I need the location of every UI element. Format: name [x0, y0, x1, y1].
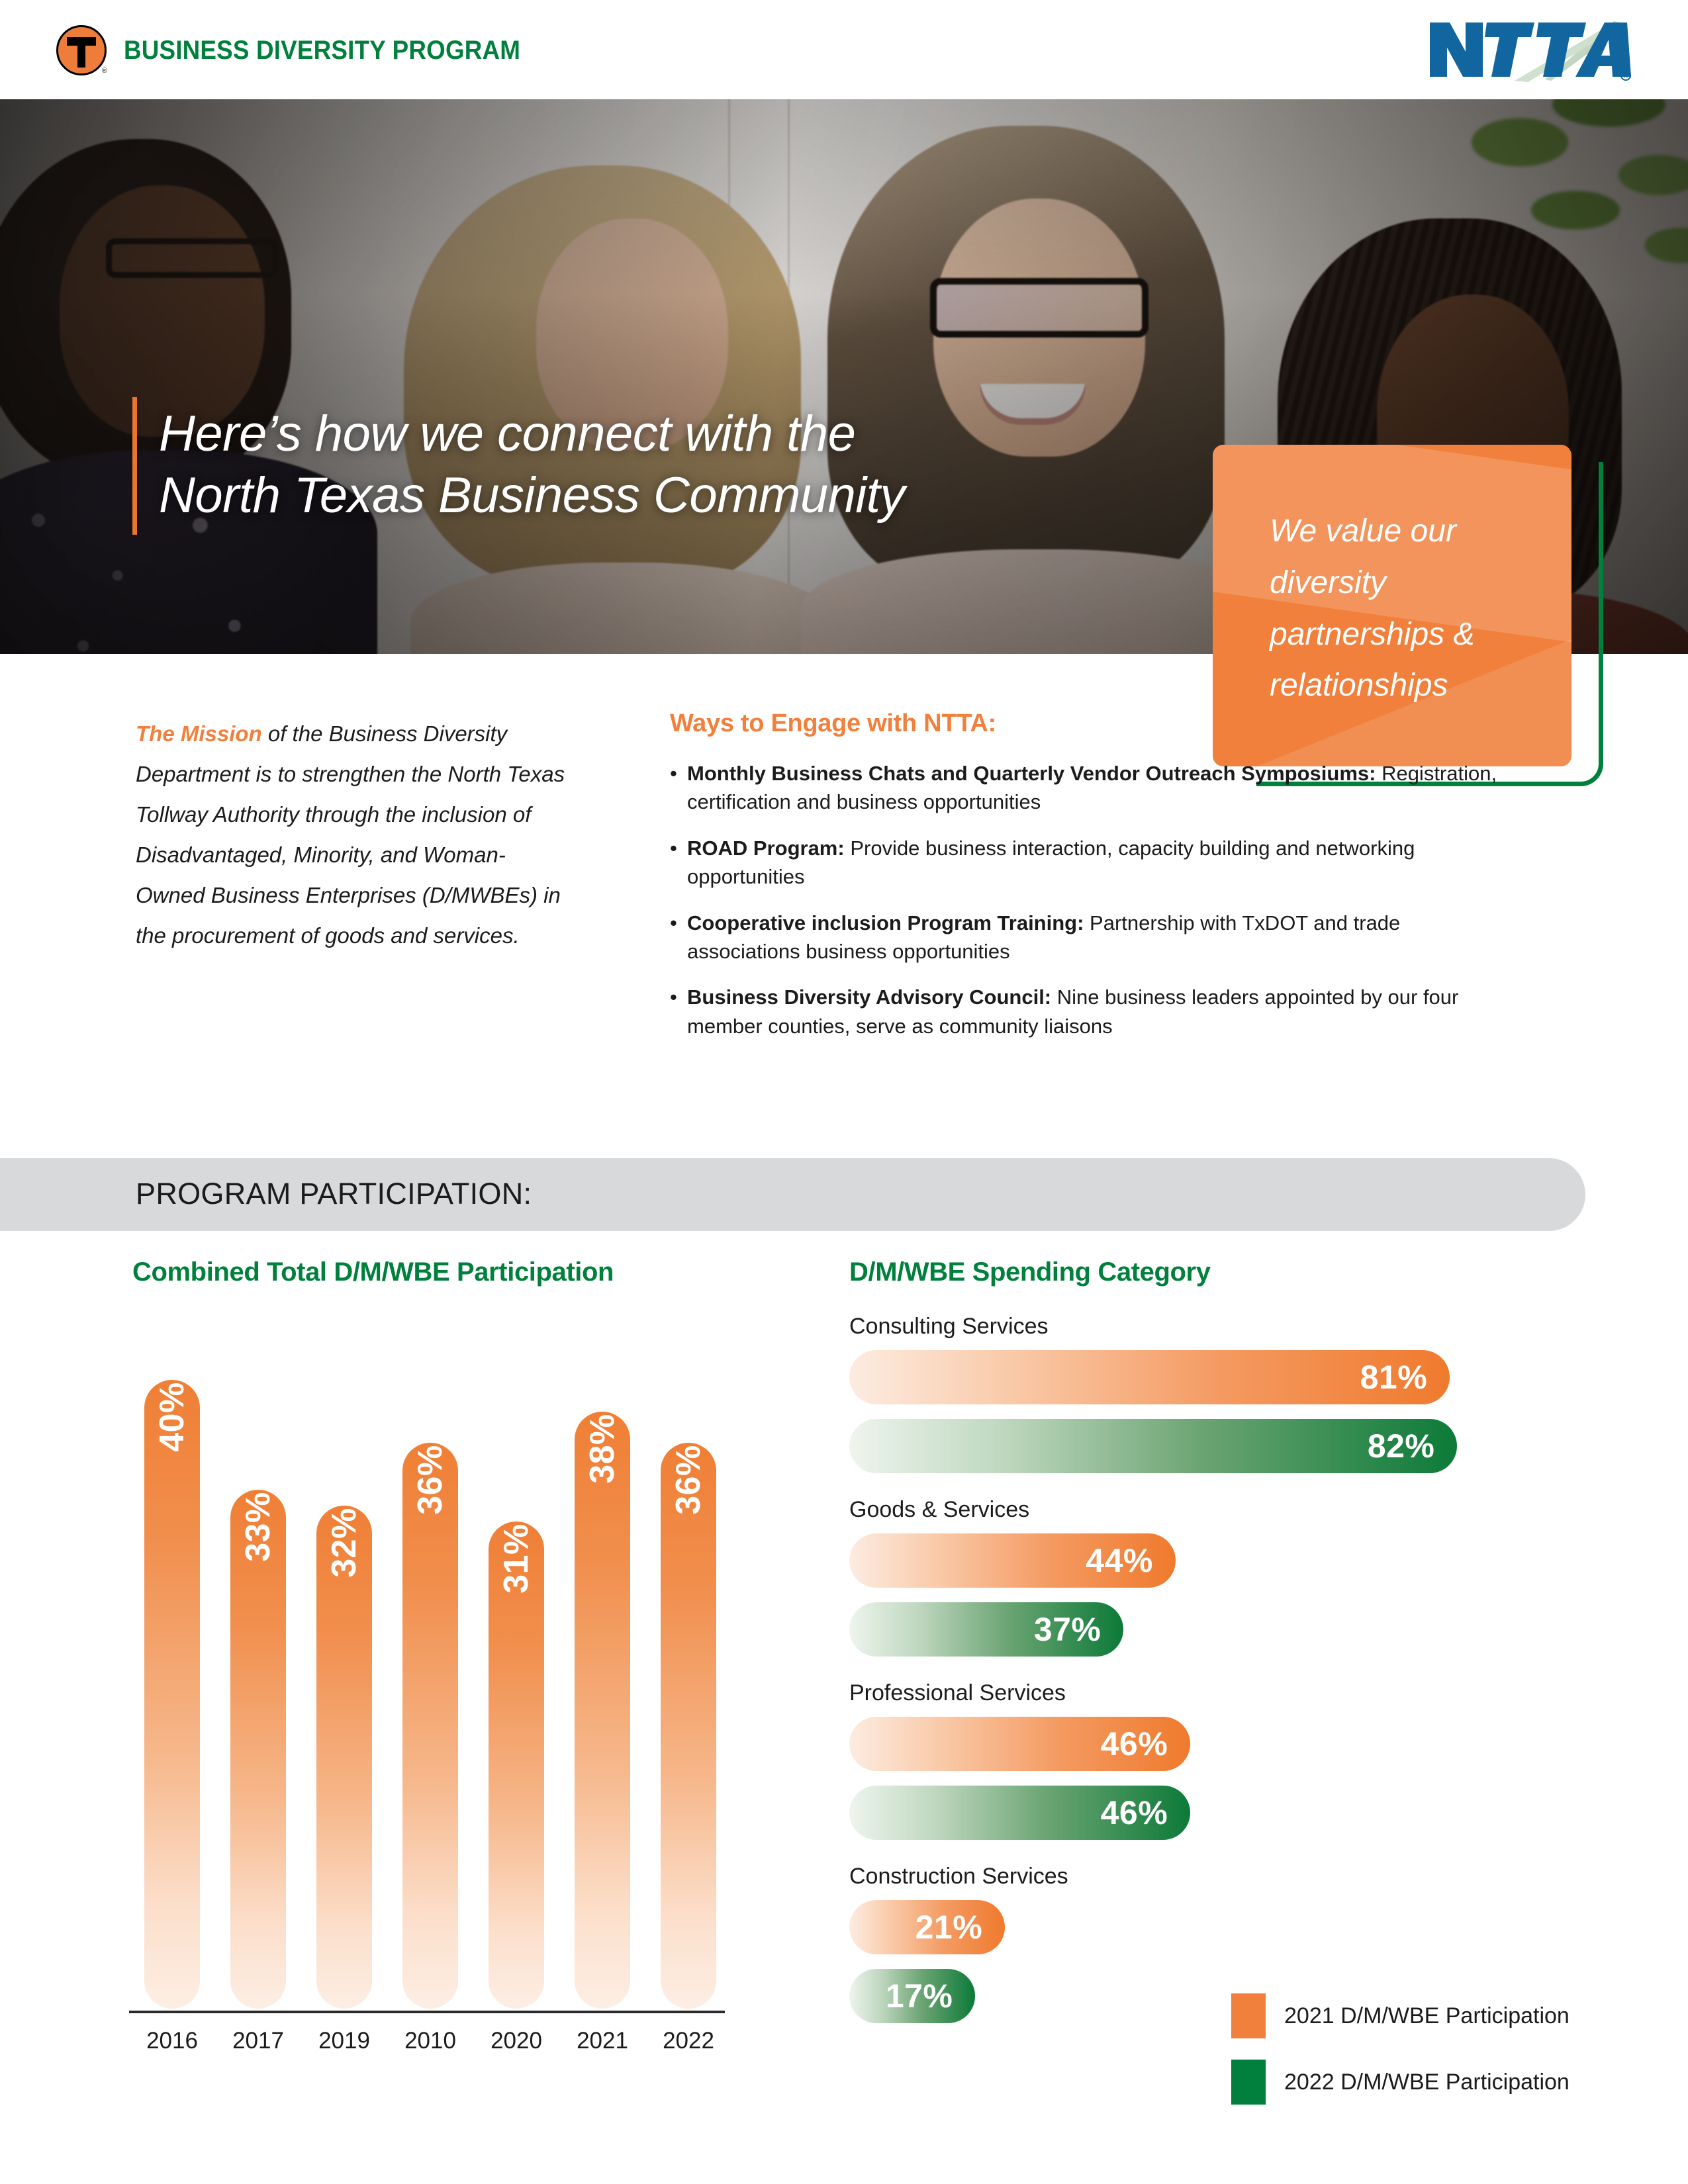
bullet-dot-icon: •	[670, 983, 687, 1040]
category-label: Construction Services	[849, 1864, 1591, 1889]
hero-title: Here’s how we connect with the North Tex…	[159, 404, 1119, 526]
chart-axis-line	[129, 2011, 725, 2013]
x-axis-tick-label: 2020	[467, 2028, 566, 2054]
engage-bullet-text: ROAD Program: Provide business interacti…	[687, 834, 1497, 891]
legend-swatch	[1231, 2060, 1266, 2105]
horizontal-chart-title: D/M/WBE Spending Category	[849, 1257, 1211, 1287]
category-bar-value: 21%	[915, 1908, 1006, 1946]
x-axis-tick-label: 2021	[553, 2028, 652, 2054]
x-axis-tick-label: 2016	[122, 2028, 222, 2054]
engage-bullet-text: Monthly Business Chats and Quarterly Ven…	[687, 759, 1497, 817]
engage-bullet: •Monthly Business Chats and Quarterly Ve…	[670, 759, 1497, 817]
category-bar-value: 46%	[1101, 1794, 1191, 1832]
mission-body: of the Business Diversity Department is …	[136, 721, 565, 948]
engage-bullet-list: •Monthly Business Chats and Quarterly Ve…	[670, 759, 1497, 1040]
x-axis-tick-label: 2019	[295, 2028, 394, 2054]
bar-column: 33%	[230, 1317, 286, 2009]
callout-line-1: We value our	[1270, 506, 1534, 557]
hero-accent-bar	[132, 397, 137, 535]
chart-bar: 32%	[316, 1506, 372, 2009]
registered-mark-icon: ®	[102, 67, 107, 75]
category-bar: 46%	[849, 1786, 1190, 1840]
bar-value-label: 40%	[152, 1382, 192, 1452]
engage-bullet: •Business Diversity Advisory Council: Ni…	[670, 983, 1497, 1040]
legend-item: 2021 D/M/WBE Participation	[1231, 1993, 1642, 2038]
callout-text: We value our diversity partnerships & re…	[1270, 506, 1534, 711]
bar-column: 36%	[402, 1317, 458, 2009]
category-label: Professional Services	[849, 1680, 1591, 1706]
spending-category-chart: Consulting Services81%82%Goods & Service…	[849, 1314, 1591, 2047]
brand-title: BUSINESS DIVERSITY PROGRAM	[124, 36, 520, 66]
ntta-t-logo-icon: ®	[56, 25, 107, 75]
ways-to-engage-section: Ways to Engage with NTTA: •Monthly Busin…	[670, 709, 1497, 1058]
bullet-dot-icon: •	[670, 834, 687, 891]
chart-bar: 40%	[144, 1380, 200, 2009]
category-bar-value: 37%	[1034, 1610, 1124, 1649]
callout-line-3: partnerships &	[1270, 609, 1534, 660]
mission-statement: The Mission of the Business Diversity De…	[136, 713, 573, 956]
category-bar: 17%	[849, 1969, 975, 2023]
hero-title-line-2: North Texas Business Community	[159, 465, 1119, 527]
year-tick-labels: 2016201720192010202020212022	[129, 2028, 731, 2064]
engage-bullet: •ROAD Program: Provide business interact…	[670, 834, 1497, 891]
mission-lead: The Mission	[136, 721, 262, 746]
category-bar: 37%	[849, 1602, 1123, 1657]
category-bar: 81%	[849, 1350, 1450, 1404]
hero-title-line-1: Here’s how we connect with the	[159, 404, 1119, 465]
bullet-dot-icon: •	[670, 909, 687, 966]
bar-column: 32%	[316, 1317, 372, 2009]
category-bar-value: 82%	[1368, 1427, 1458, 1465]
category-label: Goods & Services	[849, 1497, 1591, 1523]
spending-category-group: Professional Services46%46%	[849, 1680, 1591, 1840]
engage-bullet: •Cooperative inclusion Program Training:…	[670, 909, 1497, 966]
chart-bar: 31%	[489, 1522, 544, 2009]
callout-line-4: relationships	[1270, 660, 1534, 711]
program-participation-label: PROGRAM PARTICIPATION:	[136, 1177, 532, 1211]
category-bar-value: 81%	[1360, 1358, 1450, 1396]
category-bar-value: 17%	[886, 1977, 976, 2015]
brand-lockup: ® BUSINESS DIVERSITY PROGRAM	[56, 25, 555, 75]
legend-swatch	[1231, 1993, 1266, 2038]
category-bar-value: 46%	[1101, 1725, 1191, 1763]
chart-bar: 33%	[230, 1490, 286, 2009]
bar-value-label: 33%	[238, 1492, 278, 1562]
vertical-chart-title: Combined Total D/M/WBE Participation	[132, 1257, 614, 1287]
callout-line-2: diversity	[1270, 557, 1534, 609]
legend-label: 2021 D/M/WBE Participation	[1284, 2003, 1570, 2029]
engage-bullet-term: ROAD Program:	[687, 837, 845, 860]
x-axis-tick-label: 2022	[639, 2028, 738, 2054]
bar-value-label: 31%	[496, 1524, 536, 1594]
ntta-logo-icon: R	[1415, 19, 1634, 82]
engage-bullet-text: Business Diversity Advisory Council: Nin…	[687, 983, 1497, 1040]
engage-bullet-text: Cooperative inclusion Program Training: …	[687, 909, 1497, 966]
bullet-dot-icon: •	[670, 759, 687, 817]
page-header: ® BUSINESS DIVERSITY PROGRAM R	[0, 0, 1688, 99]
bar-column: 40%	[144, 1317, 200, 2009]
spending-category-group: Consulting Services81%82%	[849, 1314, 1591, 1473]
chart-bar: 36%	[402, 1443, 458, 2009]
legend-label: 2022 D/M/WBE Participation	[1284, 2070, 1570, 2095]
category-bar-value: 44%	[1086, 1541, 1176, 1580]
chart-bar: 38%	[575, 1412, 630, 2009]
combined-participation-chart: 40%33%32%36%31%38%36% 201620172019201020…	[129, 1314, 731, 2091]
bar-value-label: 32%	[324, 1508, 364, 1578]
category-bar: 46%	[849, 1717, 1190, 1771]
category-bar: 82%	[849, 1419, 1457, 1473]
chart-bar: 36%	[661, 1443, 716, 2009]
legend-item: 2022 D/M/WBE Participation	[1231, 2060, 1642, 2105]
bar-column: 36%	[661, 1317, 716, 2009]
vertical-bars: 40%33%32%36%31%38%36%	[129, 1317, 731, 2009]
chart-legend: 2021 D/M/WBE Participation2022 D/M/WBE P…	[1231, 1993, 1642, 2126]
x-axis-tick-label: 2010	[381, 2028, 480, 2054]
bar-value-label: 36%	[410, 1445, 450, 1515]
engage-bullet-term: Monthly Business Chats and Quarterly Ven…	[687, 762, 1376, 785]
bar-value-label: 38%	[583, 1414, 622, 1484]
bar-value-label: 36%	[669, 1445, 708, 1515]
bar-column: 31%	[489, 1317, 544, 2009]
category-bar: 21%	[849, 1900, 1005, 1954]
engage-title: Ways to Engage with NTTA:	[670, 709, 1497, 738]
x-axis-tick-label: 2017	[209, 2028, 308, 2054]
engage-bullet-term: Cooperative inclusion Program Training:	[687, 911, 1084, 934]
category-label: Consulting Services	[849, 1314, 1591, 1340]
bar-column: 38%	[575, 1317, 630, 2009]
svg-text:R: R	[1624, 73, 1628, 79]
engage-bullet-term: Business Diversity Advisory Council:	[687, 985, 1051, 1009]
spending-category-group: Goods & Services44%37%	[849, 1497, 1591, 1657]
category-bar: 44%	[849, 1533, 1176, 1588]
